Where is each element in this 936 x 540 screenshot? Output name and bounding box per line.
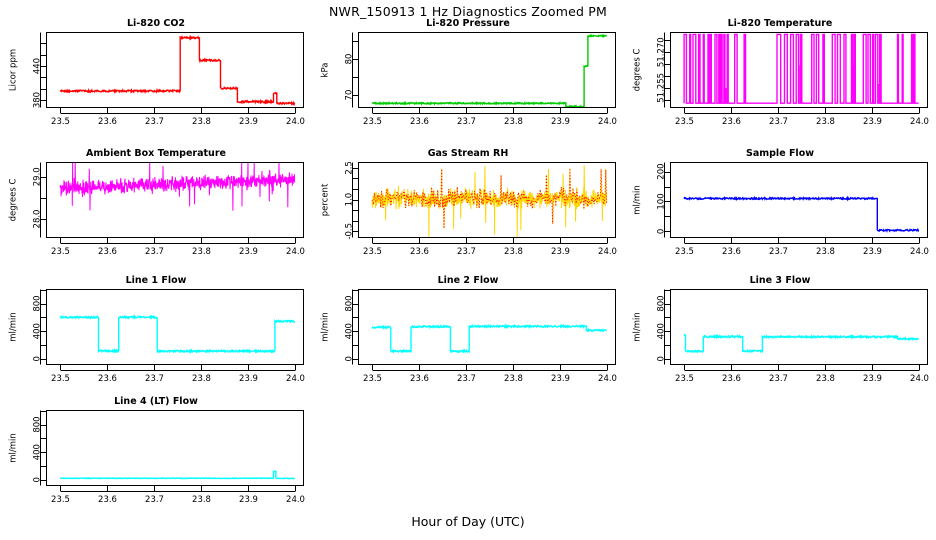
svg-text:51.270: 51.270 [657,37,667,67]
svg-text:23.8: 23.8 [192,495,211,505]
svg-text:ml/min: ml/min [633,185,643,215]
svg-text:24.0: 24.0 [910,374,929,384]
svg-text:23.8: 23.8 [504,374,523,384]
svg-text:100: 100 [657,193,667,209]
svg-text:400: 400 [33,444,43,460]
panel-plot: 51.25551.270degrees C23.523.623.723.823.… [624,18,936,143]
svg-text:24.0: 24.0 [910,117,929,127]
svg-text:23.5: 23.5 [363,374,382,384]
svg-text:29.0: 29.0 [33,167,43,186]
panel-line-2-flow: Line 2 Flow0400800ml/min23.523.623.723.8… [312,275,624,400]
svg-text:23.7: 23.7 [145,247,164,257]
svg-text:23.6: 23.6 [410,374,429,384]
svg-text:24.0: 24.0 [598,374,617,384]
svg-text:0: 0 [33,356,43,361]
svg-text:800: 800 [33,295,43,311]
svg-text:23.9: 23.9 [551,117,570,127]
svg-text:23.5: 23.5 [51,247,70,257]
panel-plot: 380440Licor ppm23.523.623.723.823.924.0 [0,18,312,143]
svg-text:23.5: 23.5 [51,117,70,127]
svg-text:-0.5: -0.5 [345,223,355,240]
svg-text:23.9: 23.9 [239,495,258,505]
svg-text:23.7: 23.7 [457,247,476,257]
panel-line-3-flow: Line 3 Flow0400800ml/min23.523.623.723.8… [624,275,936,400]
svg-text:800: 800 [657,295,667,311]
svg-text:23.8: 23.8 [192,247,211,257]
svg-text:23.7: 23.7 [145,374,164,384]
svg-text:400: 400 [657,323,667,339]
svg-text:23.8: 23.8 [192,374,211,384]
diagnostics-figure: NWR_150913 1 Hz Diagnostics Zoomed PM Li… [0,0,936,540]
svg-text:degrees C: degrees C [633,49,643,92]
panel-li-820-pressure: Li-820 Pressure7080kPa23.523.623.723.823… [312,18,624,143]
svg-text:23.9: 23.9 [239,117,258,127]
svg-text:0: 0 [657,229,667,234]
panel-plot: 28.029.0degrees C23.523.623.723.823.924.… [0,148,312,273]
svg-text:380: 380 [33,92,43,108]
svg-text:0: 0 [33,477,43,482]
svg-text:23.7: 23.7 [457,117,476,127]
svg-text:400: 400 [345,323,355,339]
svg-text:23.6: 23.6 [722,247,741,257]
panel-line-1-flow: Line 1 Flow0400800ml/min23.523.623.723.8… [0,275,312,400]
svg-text:800: 800 [33,416,43,432]
svg-text:degrees C: degrees C [9,179,19,222]
svg-text:23.8: 23.8 [816,374,835,384]
svg-text:23.5: 23.5 [363,117,382,127]
svg-text:200: 200 [657,163,667,179]
svg-text:24.0: 24.0 [286,117,305,127]
panel-plot: 0100200ml/min23.523.623.723.823.924.0 [624,148,936,273]
svg-text:23.5: 23.5 [675,117,694,127]
svg-text:23.5: 23.5 [363,247,382,257]
svg-text:23.8: 23.8 [504,247,523,257]
svg-text:23.6: 23.6 [98,374,117,384]
svg-text:ml/min: ml/min [321,312,331,342]
svg-text:440: 440 [33,58,43,74]
svg-text:23.5: 23.5 [51,495,70,505]
svg-text:2.5: 2.5 [345,161,355,175]
svg-text:23.7: 23.7 [769,374,788,384]
svg-text:28.0: 28.0 [33,210,43,229]
svg-text:23.9: 23.9 [551,374,570,384]
svg-text:23.6: 23.6 [410,247,429,257]
svg-text:kPa: kPa [321,63,331,78]
panel-plot: 0400800ml/min23.523.623.723.823.924.0 [0,275,312,400]
svg-text:23.8: 23.8 [816,247,835,257]
svg-text:23.6: 23.6 [410,117,429,127]
svg-text:23.8: 23.8 [504,117,523,127]
svg-text:24.0: 24.0 [286,247,305,257]
svg-text:1.0: 1.0 [345,193,355,207]
svg-text:70: 70 [345,90,355,101]
figure-xlabel: Hour of Day (UTC) [0,514,936,529]
panel-ambient-box-temperature: Ambient Box Temperature28.029.0degrees C… [0,148,312,273]
svg-text:23.7: 23.7 [769,247,788,257]
svg-text:Licor ppm: Licor ppm [9,49,19,91]
svg-text:23.7: 23.7 [769,117,788,127]
svg-text:24.0: 24.0 [910,247,929,257]
svg-text:23.9: 23.9 [863,374,882,384]
svg-text:80: 80 [345,54,355,65]
svg-text:23.9: 23.9 [239,374,258,384]
svg-text:24.0: 24.0 [598,247,617,257]
panel-plot: 0400800ml/min23.523.623.723.823.924.0 [0,396,312,521]
svg-text:24.0: 24.0 [286,374,305,384]
svg-text:ml/min: ml/min [633,312,643,342]
svg-text:percent: percent [321,183,331,216]
svg-text:ml/min: ml/min [9,433,19,463]
panel-li-820-temperature: Li-820 Temperature51.25551.270degrees C2… [624,18,936,143]
svg-text:23.5: 23.5 [675,374,694,384]
svg-text:23.7: 23.7 [457,374,476,384]
svg-text:23.6: 23.6 [722,374,741,384]
svg-text:23.6: 23.6 [722,117,741,127]
svg-text:24.0: 24.0 [286,495,305,505]
svg-text:23.6: 23.6 [98,495,117,505]
svg-text:23.9: 23.9 [239,247,258,257]
svg-text:0: 0 [345,356,355,361]
svg-text:ml/min: ml/min [9,312,19,342]
panel-plot: 0400800ml/min23.523.623.723.823.924.0 [312,275,624,400]
svg-text:51.255: 51.255 [657,73,667,103]
svg-text:0: 0 [657,356,667,361]
panel-plot: 0400800ml/min23.523.623.723.823.924.0 [624,275,936,400]
svg-text:800: 800 [345,295,355,311]
svg-text:23.7: 23.7 [145,495,164,505]
svg-text:23.9: 23.9 [863,247,882,257]
figure-title: NWR_150913 1 Hz Diagnostics Zoomed PM [0,4,936,19]
svg-text:23.8: 23.8 [816,117,835,127]
svg-text:23.9: 23.9 [863,117,882,127]
panel-gas-stream-rh: Gas Stream RH-0.51.02.5percent23.523.623… [312,148,624,273]
svg-text:23.8: 23.8 [192,117,211,127]
panel-plot: -0.51.02.5percent23.523.623.723.823.924.… [312,148,624,273]
panel-line-4-lt-flow: Line 4 (LT) Flow0400800ml/min23.523.623.… [0,396,312,521]
svg-text:23.6: 23.6 [98,117,117,127]
svg-text:23.9: 23.9 [551,247,570,257]
svg-text:23.6: 23.6 [98,247,117,257]
svg-text:23.5: 23.5 [675,247,694,257]
panel-plot: 7080kPa23.523.623.723.823.924.0 [312,18,624,143]
svg-text:23.7: 23.7 [145,117,164,127]
panel-sample-flow: Sample Flow0100200ml/min23.523.623.723.8… [624,148,936,273]
svg-text:23.5: 23.5 [51,374,70,384]
panel-li-820-co2: Li-820 CO2380440Licor ppm23.523.623.723.… [0,18,312,143]
svg-text:24.0: 24.0 [598,117,617,127]
svg-text:400: 400 [33,323,43,339]
